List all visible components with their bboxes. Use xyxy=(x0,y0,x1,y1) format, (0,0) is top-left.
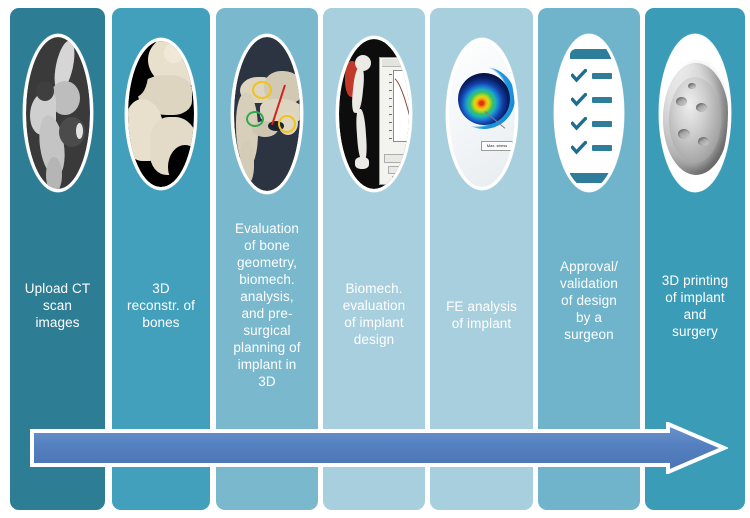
biomechanical-simulation-image xyxy=(336,36,412,192)
simulation-graph-panel xyxy=(379,57,409,185)
process-flow-arrow xyxy=(28,422,728,474)
workflow-column-label: Biomech. evaluation of implant design xyxy=(326,280,422,348)
workflow-column-label: 3D reconstr. of bones xyxy=(115,280,207,331)
pelvis-planning-image xyxy=(231,34,303,194)
workflow-column-label: Upload CT scan images xyxy=(13,280,102,331)
workflow-column-label: 3D printing of implant and surgery xyxy=(648,272,742,340)
workflow-column-label: Evaluation of bone geometry, biomech. an… xyxy=(219,220,315,390)
workflow-column-label: Approval/ validation of design by a surg… xyxy=(541,258,637,343)
checklist-image xyxy=(554,34,624,192)
check-icon xyxy=(571,117,587,136)
workflow-diagram: Upload CT scan images 3D reconstr. of bo… xyxy=(0,0,750,518)
fe-max-stress-label: Max. stress xyxy=(481,141,513,151)
check-icon xyxy=(571,93,587,112)
finite-element-contour-image: Max. stress xyxy=(446,38,518,190)
ct-scan-hip-image xyxy=(23,34,93,192)
check-icon xyxy=(571,69,587,88)
workflow-column-label: FE analysis of implant xyxy=(433,298,530,332)
check-icon xyxy=(571,141,587,160)
3d-printed-implant-image xyxy=(659,34,731,192)
3d-bone-reconstruction-image xyxy=(125,38,197,190)
